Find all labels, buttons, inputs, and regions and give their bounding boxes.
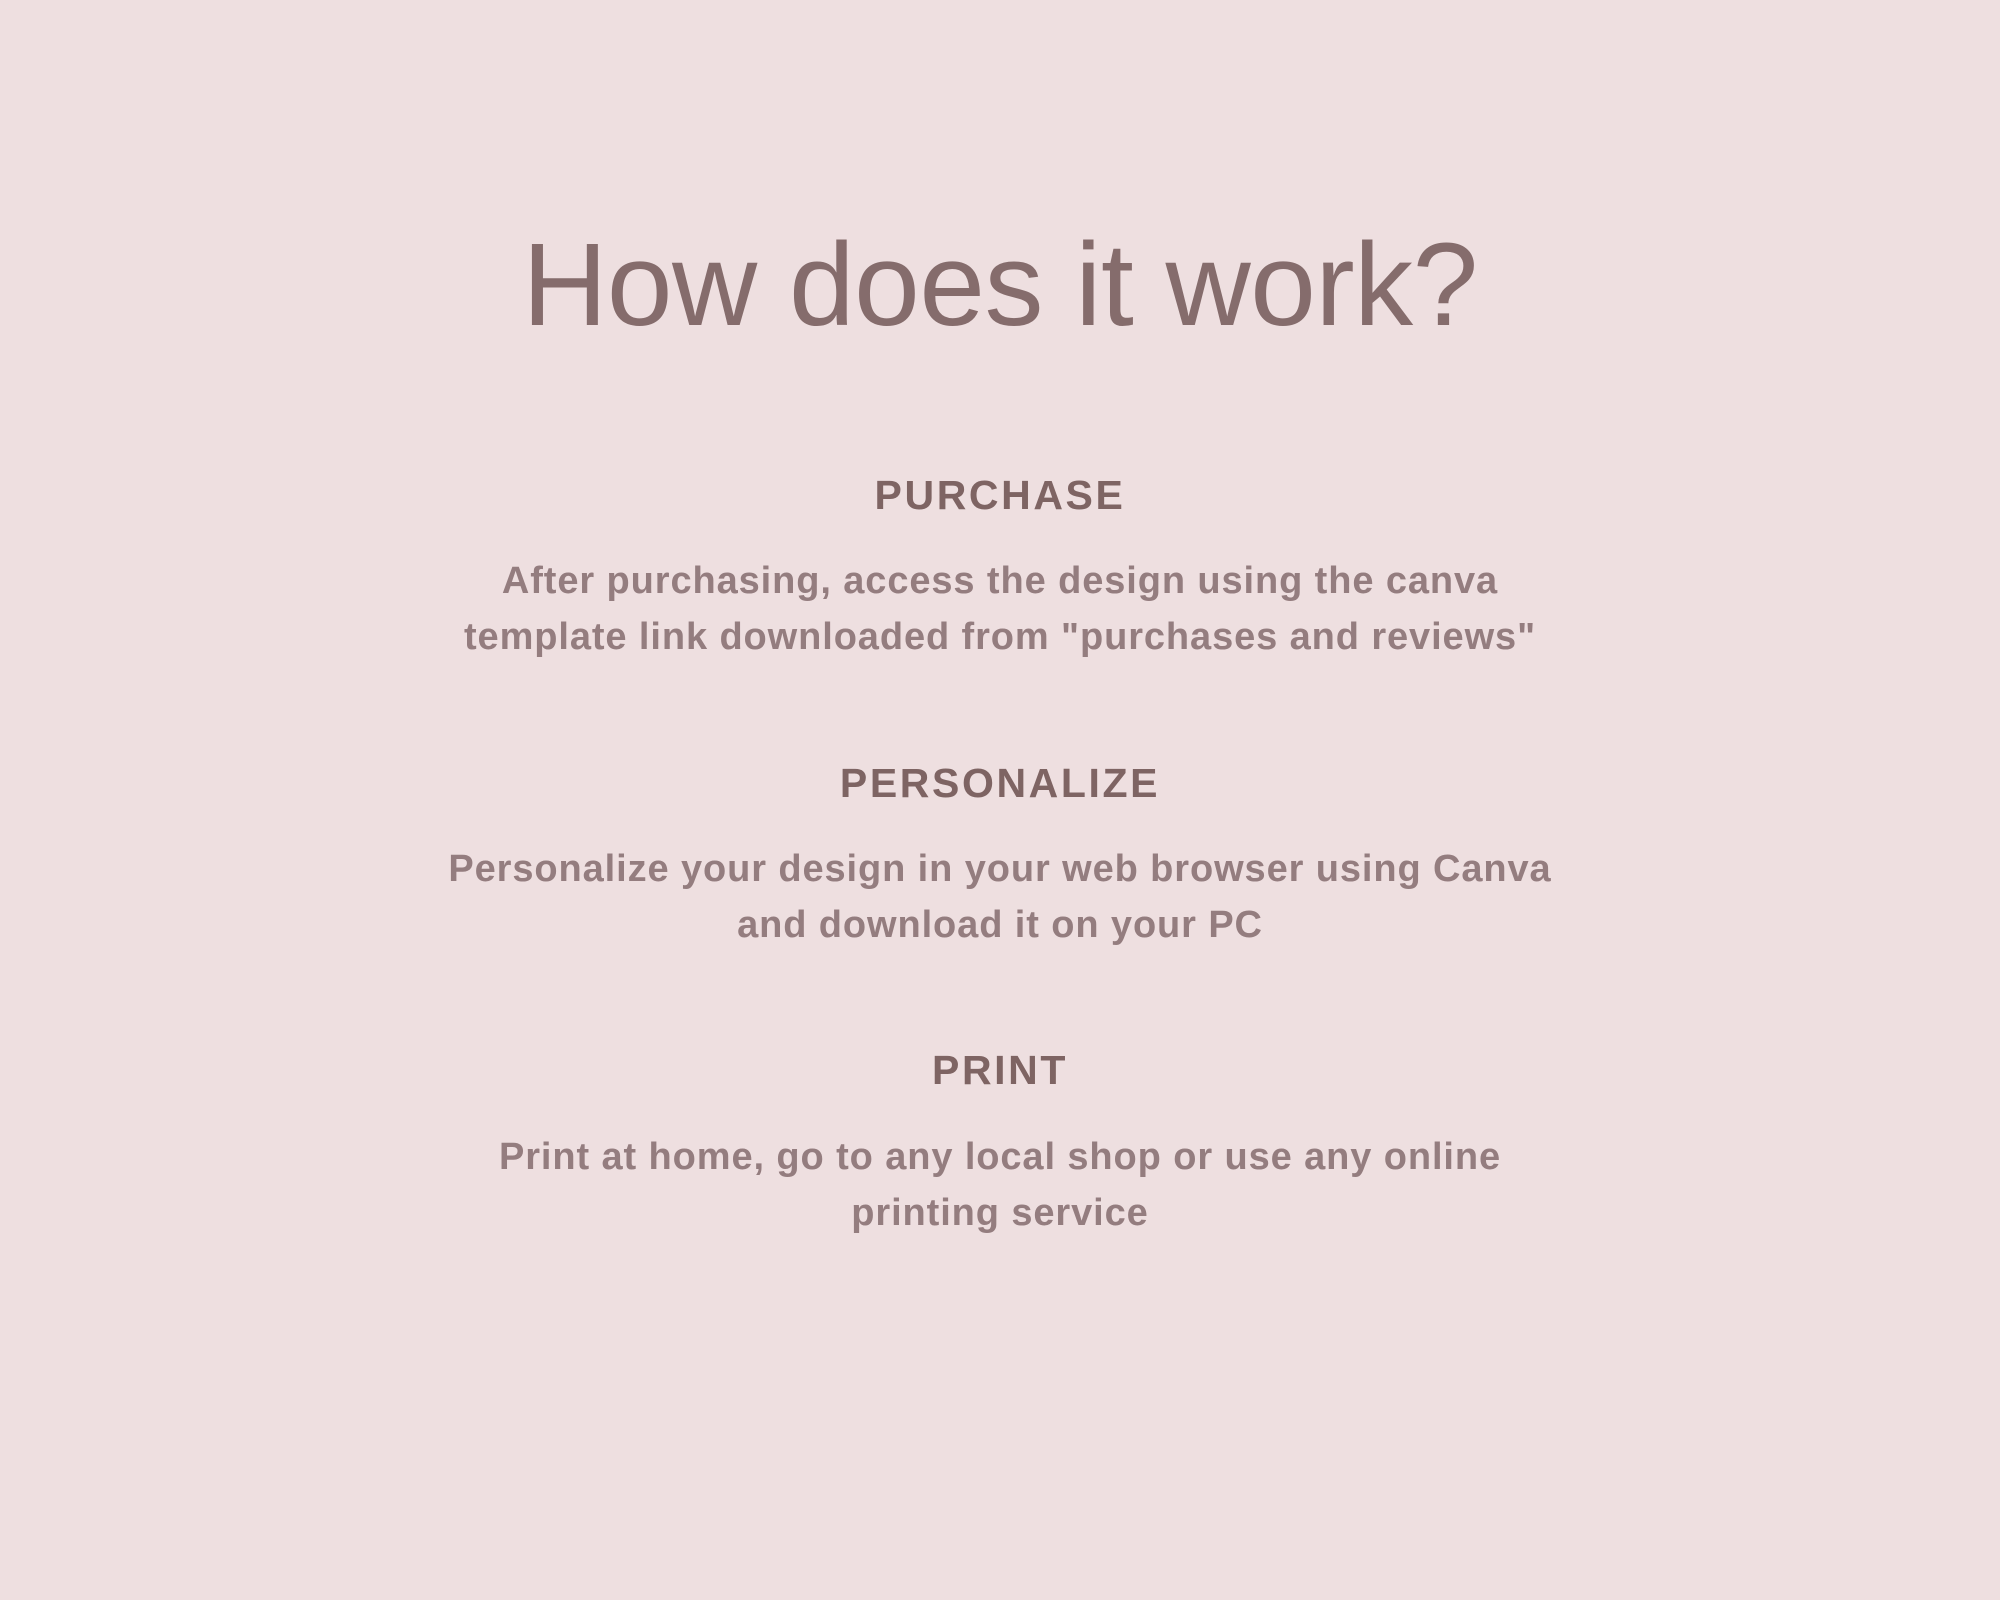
steps-list: PURCHASE After purchasing, access the de… [0,470,2000,1241]
step-body-purchase: After purchasing, access the design usin… [180,553,1820,665]
step-heading-purchase: PURCHASE [0,470,2000,521]
page-title: How does it work? [0,217,2000,354]
how-does-it-work-poster: How does it work? PURCHASE After purchas… [0,0,2000,1600]
step-body-line: template link downloaded from "purchases… [180,609,1820,665]
step-print: PRINT Print at home, go to any local sho… [0,1045,2000,1241]
step-body-print: Print at home, go to any local shop or u… [180,1129,1820,1241]
step-body-line: printing service [180,1185,1820,1241]
step-personalize: PERSONALIZE Personalize your design in y… [0,758,2000,954]
step-body-line: Personalize your design in your web brow… [180,841,1820,897]
step-purchase: PURCHASE After purchasing, access the de… [0,470,2000,666]
step-heading-print: PRINT [0,1045,2000,1096]
step-body-personalize: Personalize your design in your web brow… [180,841,1820,953]
step-body-line: and download it on your PC [180,897,1820,953]
step-heading-personalize: PERSONALIZE [0,758,2000,809]
step-body-line: Print at home, go to any local shop or u… [180,1129,1820,1185]
step-body-line: After purchasing, access the design usin… [180,553,1820,609]
